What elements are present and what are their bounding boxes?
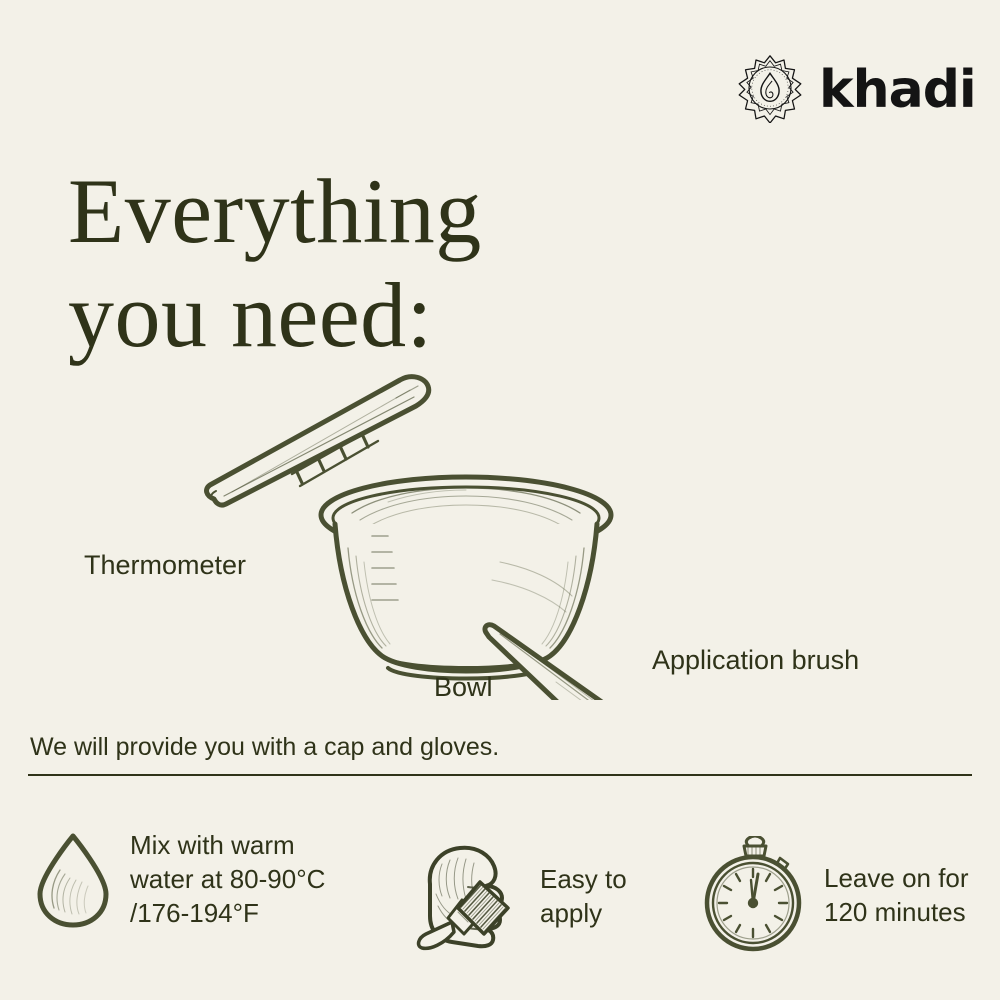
- brand-logo: khadi: [735, 53, 976, 123]
- section-divider: [28, 774, 972, 776]
- tools-illustration-group: [0, 300, 1000, 700]
- feature-leave-on-time: Leave on for 120 minutes: [700, 836, 969, 954]
- bowl-icon: [321, 477, 611, 679]
- poster-canvas: khadi Everything you need:: [0, 0, 1000, 1000]
- label-thermometer: Thermometer: [84, 550, 246, 581]
- feature-time-text: Leave on for 120 minutes: [824, 861, 969, 929]
- water-drop-icon: [30, 826, 116, 932]
- tools-illustration: [0, 300, 1000, 700]
- feature-easy-to-apply: Easy to apply: [408, 836, 627, 956]
- feature-mix-text: Mix with warm water at 80-90°C /176-194°…: [130, 828, 325, 930]
- label-bowl: Bowl: [434, 672, 493, 703]
- feature-apply-text: Easy to apply: [540, 862, 627, 930]
- feature-row: Mix with warm water at 80-90°C /176-194°…: [0, 818, 1000, 968]
- hand-with-brush-icon: [408, 836, 528, 956]
- cap-and-gloves-note: We will provide you with a cap and glove…: [30, 733, 499, 762]
- mandala-flame-badge-icon: [735, 53, 805, 123]
- label-application-brush: Application brush: [652, 645, 859, 676]
- brand-wordmark: khadi: [819, 64, 976, 116]
- stopwatch-icon: [700, 836, 810, 954]
- feature-mix-with-warm-water: Mix with warm water at 80-90°C /176-194°…: [30, 826, 325, 932]
- headline-line-1: Everything: [68, 160, 688, 264]
